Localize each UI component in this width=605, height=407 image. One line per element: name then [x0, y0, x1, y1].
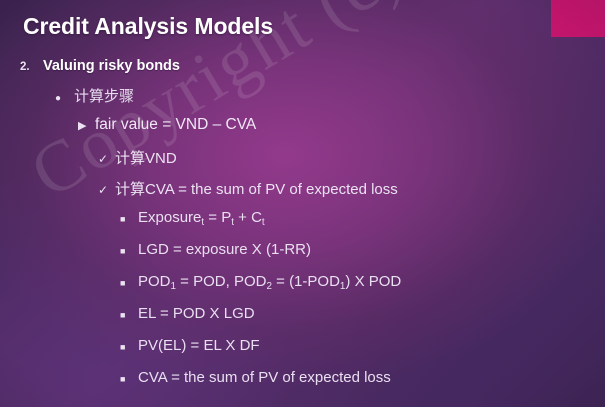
outline-row-level-5: ■EL = POD X LGD: [0, 305, 605, 337]
accent-rectangle: [551, 0, 605, 37]
bullet-check-icon: ✓: [98, 152, 115, 166]
outline-row-level-4: ✓计算VND: [0, 147, 605, 178]
slide-canvas: Copyright (c) Cherie Credit Analysis Mod…: [0, 0, 605, 407]
outline-row-text: LGD = exposure X (1-RR): [138, 241, 311, 258]
outline-row-level-5: ■PV(EL) = EL X DF: [0, 337, 605, 369]
bullet-triangle-icon: ▶: [78, 119, 95, 132]
bullet-square-icon: ■: [120, 342, 138, 352]
outline-row-text: 计算CVA = the sum of PV of expected loss: [115, 178, 398, 199]
slide-title: Credit Analysis Models: [23, 13, 273, 40]
outline-row-level-5: ■POD1 = POD, POD2 = (1-POD1) X POD: [0, 273, 605, 305]
bullet-square-icon: ■: [120, 246, 138, 256]
outline-body: 2.Valuing risky bonds●计算步骤▶fair value = …: [0, 58, 605, 401]
bullet-square-icon: ■: [120, 374, 138, 384]
outline-row-text: fair value = VND – CVA: [95, 116, 256, 134]
outline-row-level-5: ■Exposuret = Pt + Ct: [0, 209, 605, 241]
outline-row-text: Valuing risky bonds: [43, 58, 180, 74]
outline-row-text: Exposuret = Pt + Ct: [138, 209, 265, 226]
outline-row-text: 计算VND: [115, 147, 177, 168]
outline-row-text: PV(EL) = EL X DF: [138, 337, 260, 354]
outline-row-level-5: ■LGD = exposure X (1-RR): [0, 241, 605, 273]
bullet-square-icon: ■: [120, 278, 138, 288]
outline-row-level-4: ✓计算CVA = the sum of PV of expected loss: [0, 178, 605, 209]
outline-row-level-1: 2.Valuing risky bonds: [0, 58, 605, 85]
outline-row-text: CVA = the sum of PV of expected loss: [138, 369, 391, 386]
bullet-square-icon: ■: [120, 310, 138, 320]
outline-row-level-2: ●计算步骤: [0, 85, 605, 116]
outline-row-text: 计算步骤: [74, 85, 134, 106]
list-number: 2.: [20, 61, 43, 73]
outline-row-level-3: ▶fair value = VND – CVA: [0, 116, 605, 147]
outline-row-level-5: ■CVA = the sum of PV of expected loss: [0, 369, 605, 401]
outline-row-text: EL = POD X LGD: [138, 305, 255, 322]
bullet-square-icon: ■: [120, 214, 138, 224]
outline-row-text: POD1 = POD, POD2 = (1-POD1) X POD: [138, 273, 401, 290]
bullet-check-icon: ✓: [98, 183, 115, 197]
bullet-dot-icon: ●: [55, 94, 74, 104]
